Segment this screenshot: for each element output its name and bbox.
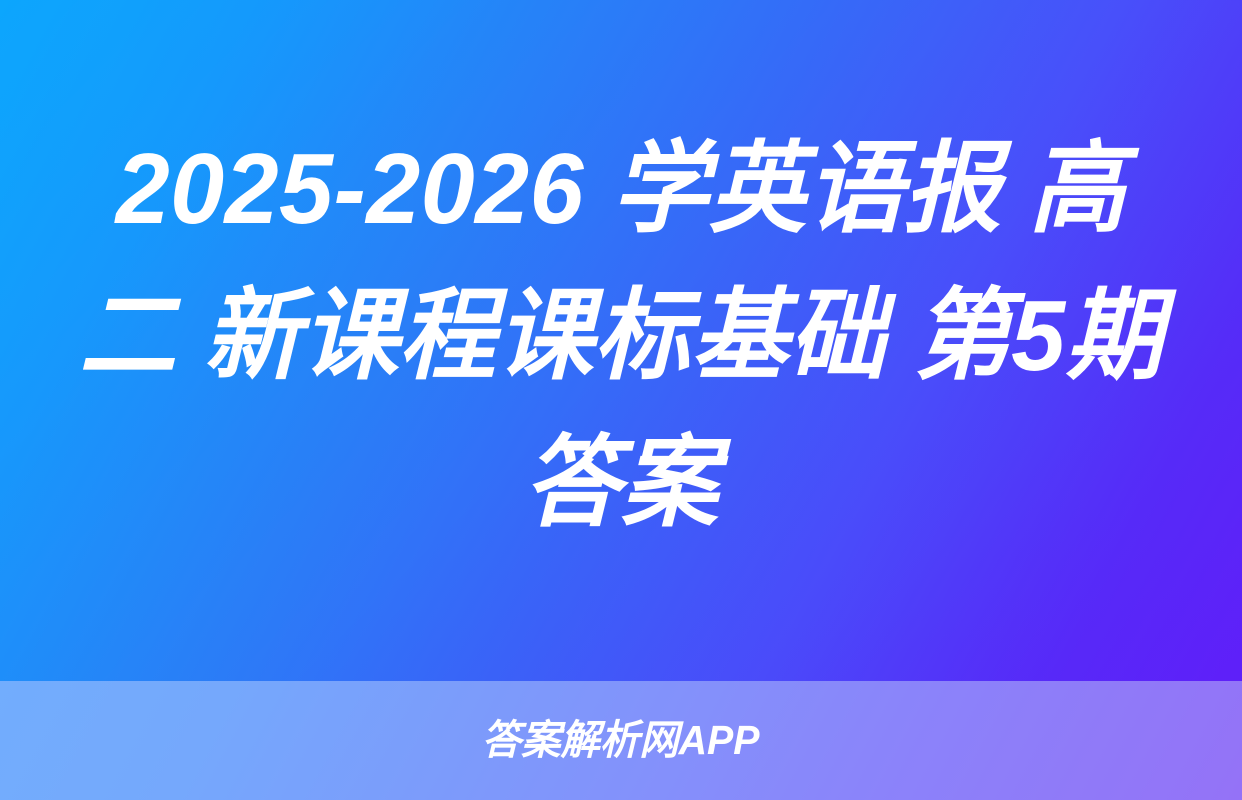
- app-watermark-label: 答案解析网APP: [482, 720, 760, 761]
- page-title: 2025-2026 学英语报 高二 新课程课标基础 第5期答案: [79, 116, 1163, 557]
- poster-hero-banner: 2025-2026 学英语报 高二 新课程课标基础 第5期答案: [0, 0, 1242, 681]
- watermark-band: 答案解析网APP: [0, 681, 1242, 800]
- answer-poster-card: 2025-2026 学英语报 高二 新课程课标基础 第5期答案 答案解析网APP: [0, 0, 1242, 800]
